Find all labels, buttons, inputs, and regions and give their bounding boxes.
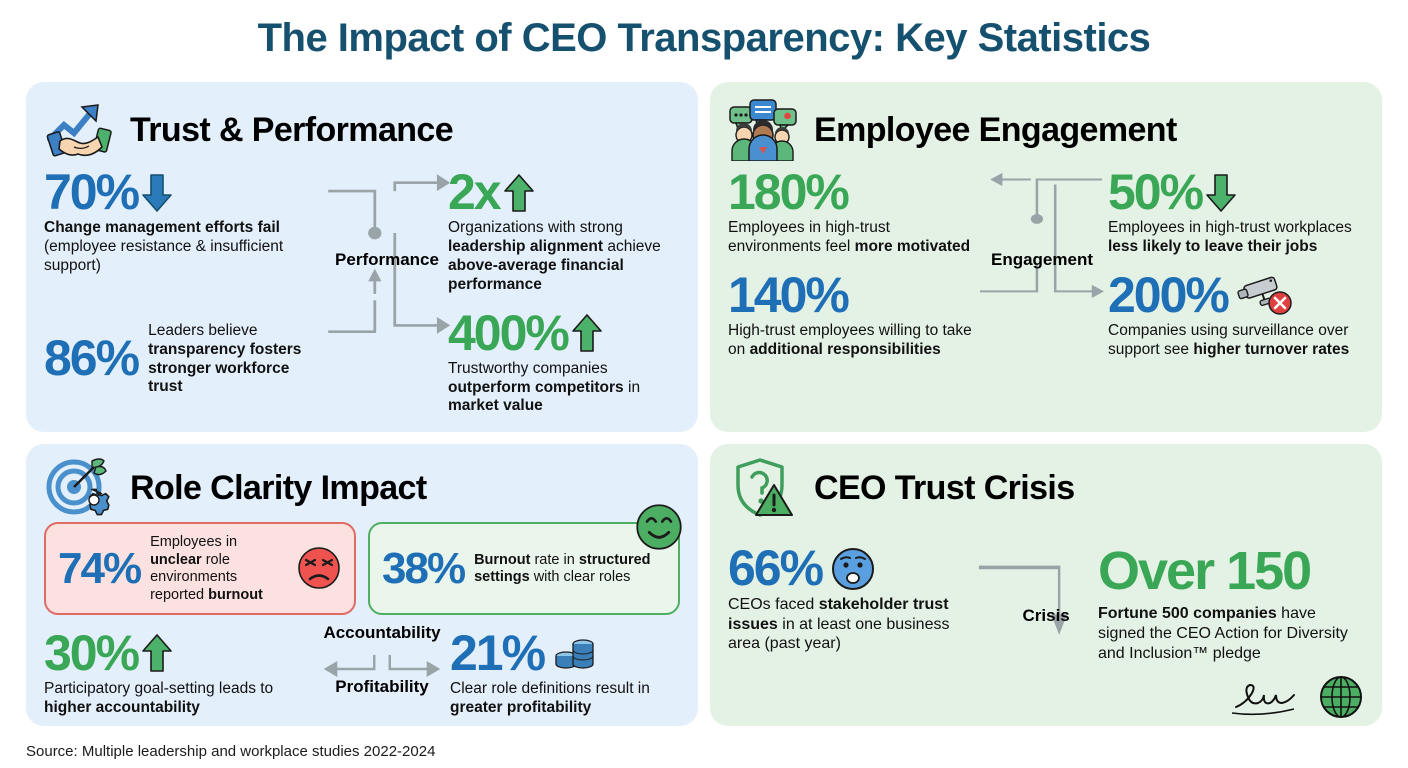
connector-lines [326,168,448,430]
stat-value: 30% [44,629,314,678]
stat-description: Employees in high-trust workplaces less … [1108,219,1364,257]
stat-2x: 2x Organizations with strong leadership … [448,168,680,295]
stat-value: 400% [448,309,680,358]
connector-lines [976,168,1108,374]
right-stats-column: 21% Clear role d [450,629,680,726]
stat-400-percent: 400% Trustworthy companies outperform co… [448,309,680,417]
connector-engagement: Engagement [976,168,1108,374]
stat-value: 21% [450,629,680,678]
up-arrow-green-icon [570,311,604,355]
left-stats-column: 66% [728,544,975,720]
panel-title: Trust & Performance [130,111,453,150]
connector-label: Crisis [1023,606,1070,626]
connector-performance: Performance [326,168,448,430]
stat-value: 140% [728,271,976,320]
stat-21-percent: 21% Clear role d [450,629,680,718]
handshake-growth-icon [44,99,116,161]
down-arrow-blue-icon [140,171,174,215]
connector-label-accountability: Accountability [323,623,440,643]
connector-crisis: Crisis [975,544,1090,720]
panel-title: Employee Engagement [814,111,1177,150]
stat-86-percent: 86% Leaders believe transparency fosters… [44,320,326,398]
right-stats-column: Over 150 Fortune 500 companies have sign… [1090,544,1364,720]
stat-value: 50% [1108,168,1364,217]
panel-header: Employee Engagement [728,96,1364,164]
stat-description: Leaders believe transparency fosters str… [148,322,326,398]
stat-50-percent: 50% Employees in high-trust workplaces l… [1108,168,1364,257]
stat-value: 2x [448,168,680,217]
coin-stack-icon [552,632,596,674]
highlight-stats-row: 74% Employees in unclear role environmen… [44,522,680,615]
panel-title: CEO Trust Crisis [814,469,1075,508]
panel-content: 30% Participatory goal-setting leads to … [44,629,680,726]
stat-180-percent: 180% Employees in high-trust environment… [728,168,976,257]
panel-title: Role Clarity Impact [130,469,427,508]
connector-label: Engagement [991,250,1093,270]
panel-trust-performance: Trust & Performance 70% Change managemen… [26,82,698,432]
connector-accountability-profitability: Accountability Profitability [314,629,450,725]
panel-content: 180% Employees in high-trust environment… [728,168,1364,374]
stat-value: 74% [58,547,140,590]
stat-description: CEOs faced stakeholder trust issues in a… [728,595,975,654]
stat-description: Companies using surveillance over suppor… [1108,322,1364,360]
panel-header: Trust & Performance [44,96,680,164]
panel-grid: Trust & Performance 70% Change managemen… [26,82,1382,722]
stat-value: Over 150 [1098,544,1364,598]
stat-description: High-trust employees willing to take on … [728,322,976,360]
stat-140-percent: 140% High-trust employees willing to tak… [728,271,976,360]
down-arrow-green-icon [1204,171,1238,215]
panel-content: 66% [728,544,1364,720]
signature-row [1098,674,1364,720]
stat-description: Change management efforts fail (employee… [44,219,326,276]
connector-label-profitability: Profitability [335,677,429,697]
stat-200-percent: 200% [1108,271,1364,360]
stat-value: 200% [1108,271,1364,320]
panel-employee-engagement: Employee Engagement 180% Employees in hi… [710,82,1382,432]
globe-icon [1318,674,1364,720]
connector-label: Performance [335,250,439,270]
connector-lines [975,544,1090,720]
left-stats-column: 180% Employees in high-trust environment… [728,168,976,374]
stat-value: 38% [382,547,464,590]
panel-role-clarity-impact: Role Clarity Impact 74% Employees in unc… [26,444,698,726]
stat-description: Burnout rate in structured settings with… [474,552,666,587]
highlight-stat-74-percent: 74% Employees in unclear role environmen… [44,522,356,615]
people-speech-bubbles-icon [728,99,800,161]
panel-content: 70% Change management efforts fail (empl… [44,168,680,430]
stat-30-percent: 30% Participatory goal-setting leads to … [44,629,314,718]
stat-description: Clear role definitions result in greater… [450,680,680,718]
stat-value: 66% [728,544,975,593]
stat-description: Employees in unclear role environments r… [150,534,286,605]
target-gear-icon [44,457,116,519]
right-stats-column: 50% Employees in high-trust workplaces l… [1108,168,1364,374]
stat-description: Organizations with strong leadership ali… [448,219,680,295]
stat-description: Trustworthy companies outperform competi… [448,360,680,417]
infographic-page: The Impact of CEO Transparency: Key Stat… [0,0,1408,768]
highlight-stat-38-percent: 38% Burnout rate in structured settings … [368,522,680,615]
left-stats-column: 70% Change management efforts fail (empl… [44,168,326,430]
up-arrow-green-icon [140,631,174,675]
stat-value: 86% [44,334,138,383]
panel-ceo-trust-crisis: CEO Trust Crisis 66% [710,444,1382,726]
worried-face-icon [830,546,876,592]
source-note: Source: Multiple leadership and workplac… [26,743,435,760]
panel-header: Role Clarity Impact [44,458,680,518]
stat-70-percent: 70% Change management efforts fail (empl… [44,168,326,276]
shield-question-warning-icon [728,457,800,519]
panel-header: CEO Trust Crisis [728,458,1364,518]
stat-description: Employees in high-trust environments fee… [728,219,976,257]
stat-value: 180% [728,168,976,217]
stat-66-percent: 66% [728,544,975,654]
stat-description: Participatory goal-setting leads to high… [44,680,314,718]
surveillance-camera-blocked-icon [1236,274,1294,316]
up-arrow-green-icon [502,171,536,215]
page-title: The Impact of CEO Transparency: Key Stat… [0,0,1408,60]
stat-description: Fortune 500 companies have signed the CE… [1098,604,1364,664]
signature-icon [1228,677,1304,717]
left-stats-column: 30% Participatory goal-setting leads to … [44,629,314,726]
right-stats-column: 2x Organizations with strong leadership … [448,168,680,430]
stat-value: 70% [44,168,326,217]
smiling-face-icon [634,502,684,552]
angry-face-icon [296,545,342,591]
